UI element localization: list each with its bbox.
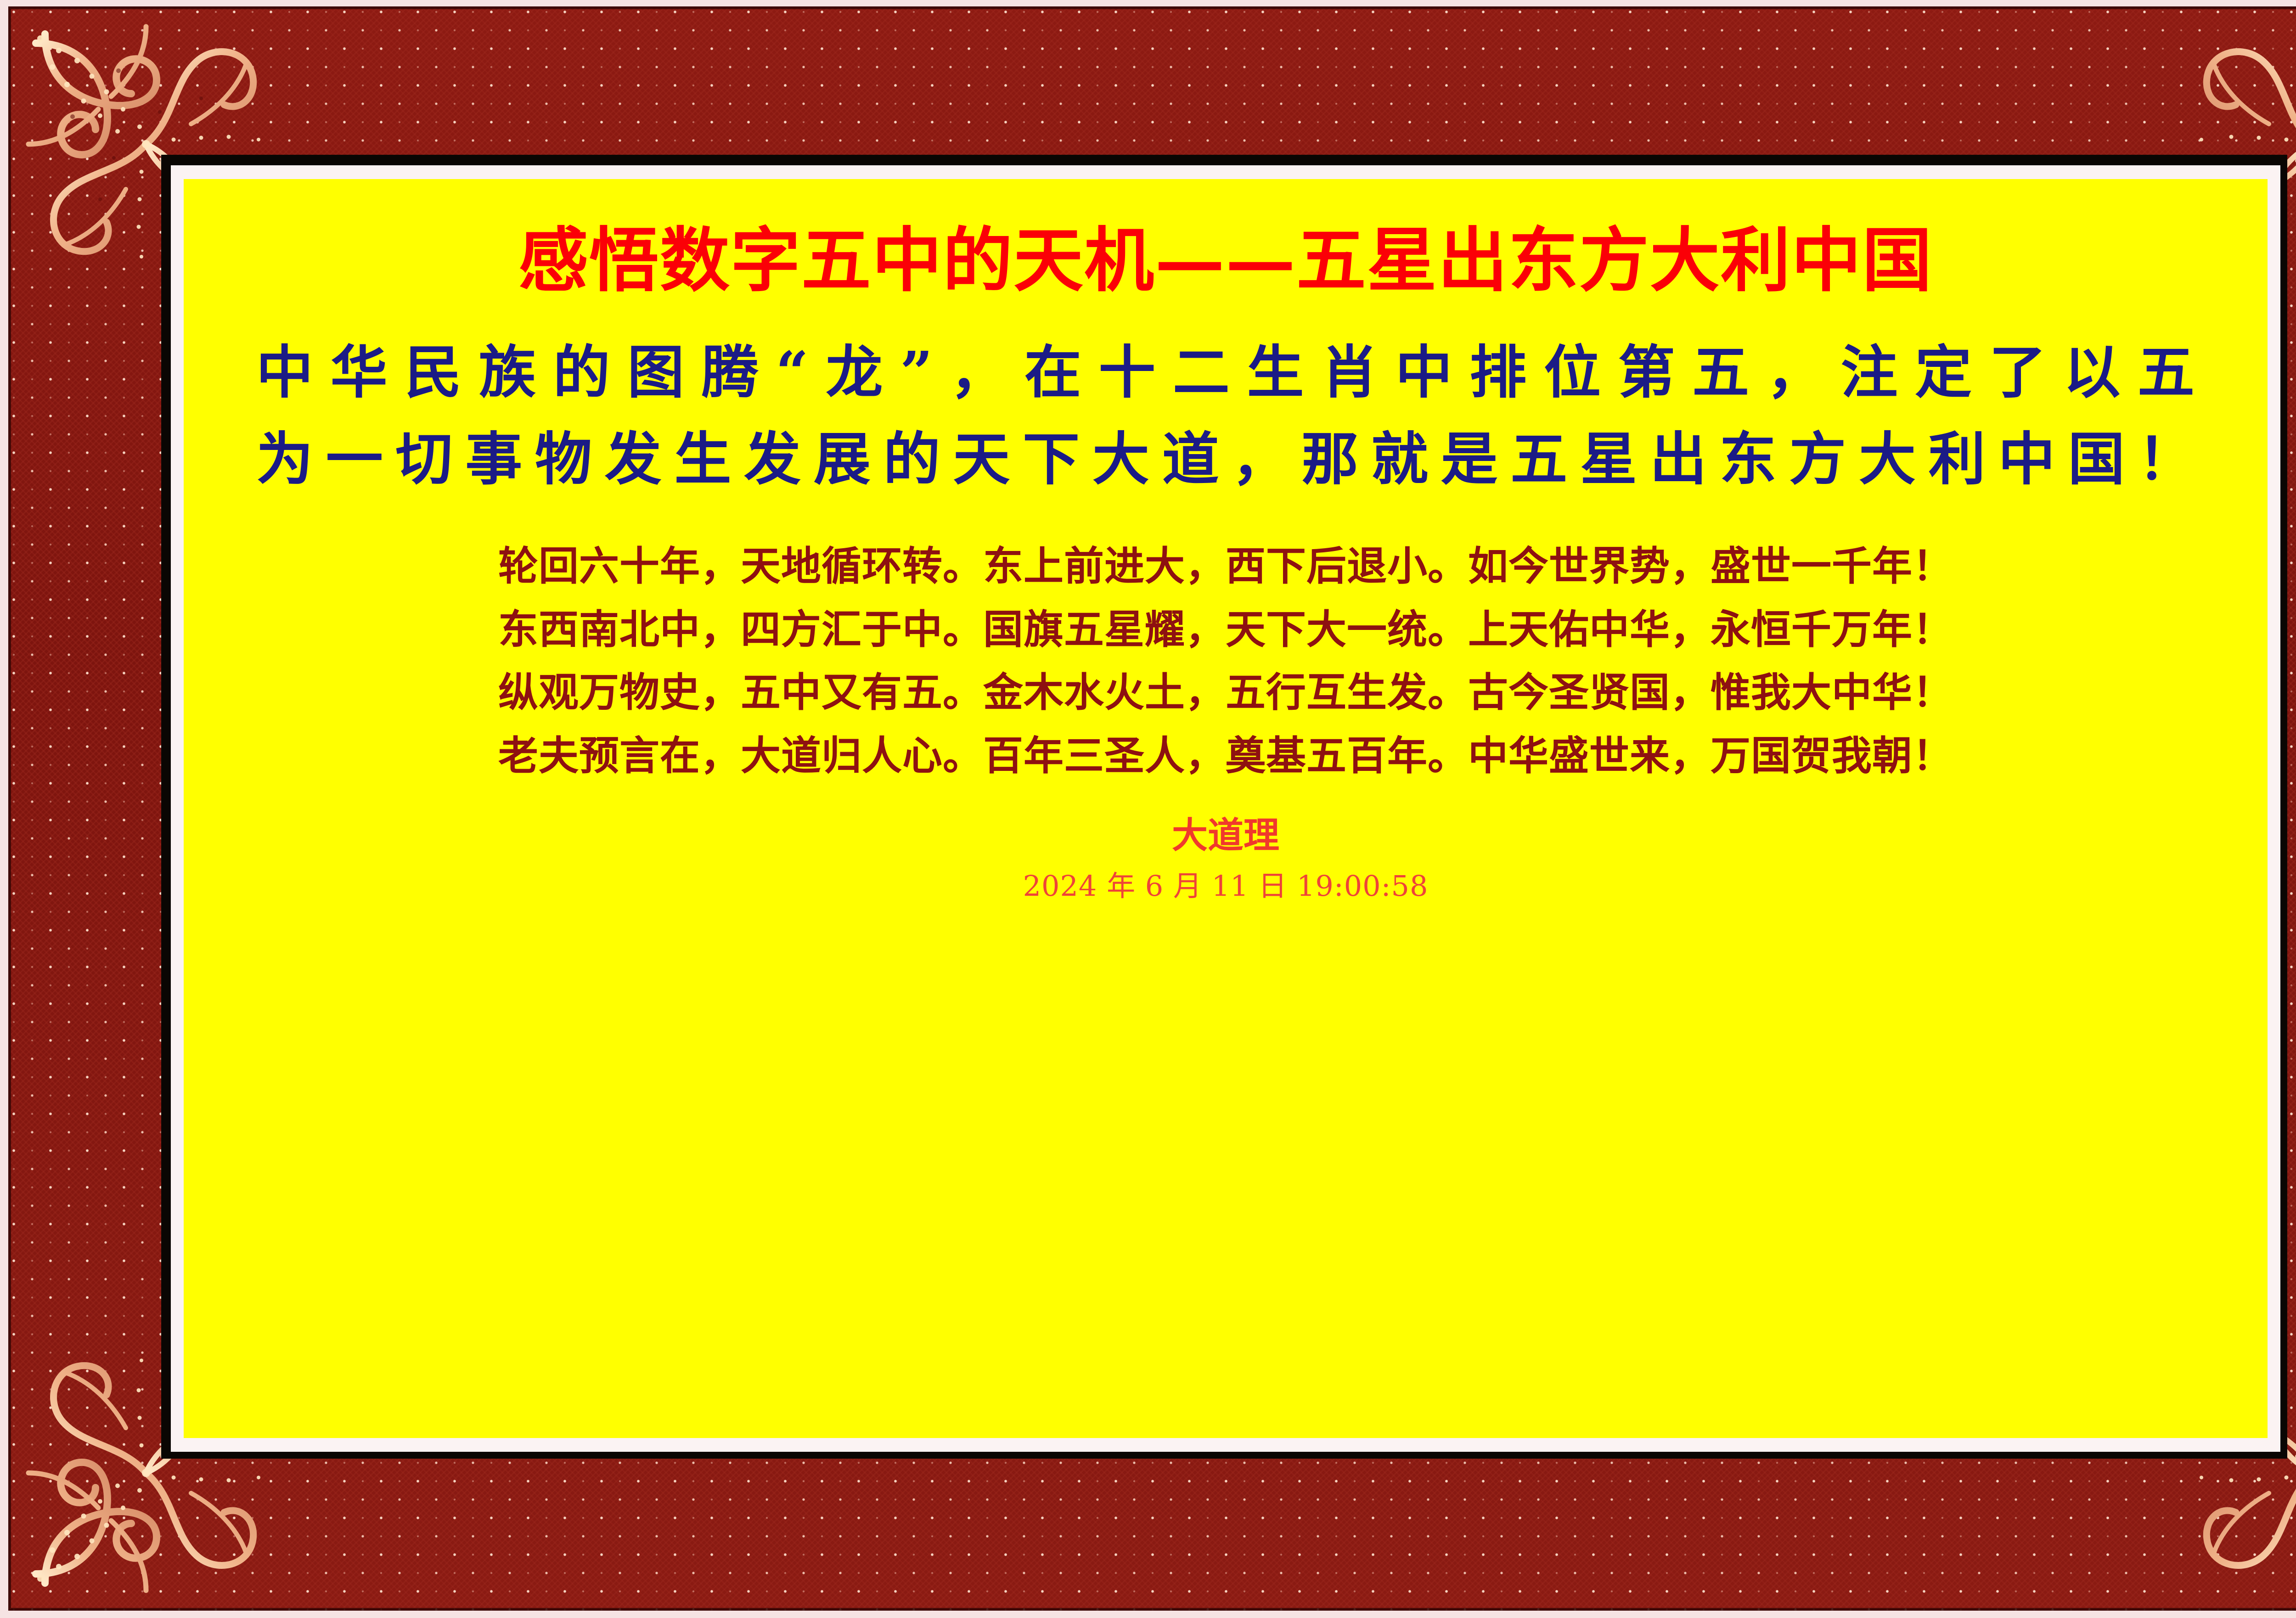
- signature-timestamp: 2024 年 6 月 11 日 19:00:58: [239, 869, 2212, 903]
- inner-panel-white-bevel: 感悟数字五中的天机——五星出东方大利中国 中华民族的图腾“龙”，在十二生肖中排位…: [171, 165, 2280, 1452]
- subtitle-paragraph: 中华民族的图腾“龙”，在十二生肖中排位第五，注定了以五 为一切事物发生发展的天下…: [239, 330, 2212, 503]
- content-stack: 感悟数字五中的天机——五星出东方大利中国 中华民族的图腾“龙”，在十二生肖中排位…: [184, 179, 2268, 903]
- content-panel: 感悟数字五中的天机——五星出东方大利中国 中华民族的图腾“龙”，在十二生肖中排位…: [184, 179, 2268, 1438]
- signature-author: 大道理: [239, 814, 2212, 857]
- poem-line: 东西南北中，四方汇于中。国旗五星耀，天下大一统。上天佑中华，永恒千万年！: [281, 598, 2170, 661]
- signature-block: 大道理 2024 年 6 月 11 日 19:00:58: [239, 814, 2212, 903]
- page-title: 感悟数字五中的天机——五星出东方大利中国: [239, 221, 2212, 299]
- subtitle-line: 中华民族的图腾“龙”，在十二生肖中排位第五，注定了以五: [256, 330, 2195, 416]
- subtitle-line: 为一切事物发生发展的天下大道，那就是五星出东方大利中国！: [256, 416, 2195, 503]
- inner-panel-black-border: 感悟数字五中的天机——五星出东方大利中国 中华民族的图腾“龙”，在十二生肖中排位…: [162, 155, 2287, 1458]
- decorative-poster: 感悟数字五中的天机——五星出东方大利中国 中华民族的图腾“龙”，在十二生肖中排位…: [0, 0, 2296, 1618]
- poem-line: 轮回六十年，天地循环转。东上前进大，西下后退小。如今世界势，盛世一千年！: [281, 535, 2170, 598]
- poem-line: 纵观万物史，五中又有五。金木水火土，五行互生发。古今圣贤国，惟我大中华！: [281, 661, 2170, 724]
- poem-line: 老夫预言在，大道归人心。百年三圣人，奠基五百年。中华盛世来，万国贺我朝！: [281, 725, 2170, 787]
- poem-block: 轮回六十年，天地循环转。东上前进大，西下后退小。如今世界势，盛世一千年！ 东西南…: [239, 535, 2212, 787]
